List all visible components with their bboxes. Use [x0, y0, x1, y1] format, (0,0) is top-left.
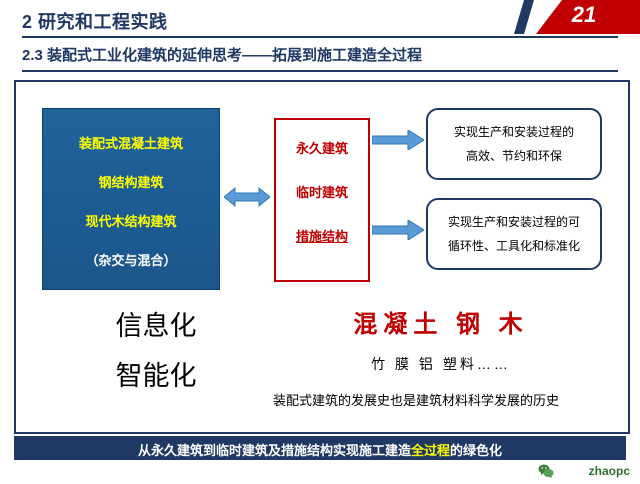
red-box-line-1: 永久建筑	[276, 138, 368, 157]
blue-box-line-4: （杂交与混合）	[43, 250, 219, 269]
red-box-line-3: 措施结构	[276, 226, 368, 245]
footer-text-part1: 从永久建筑到临时建筑及措施结构实现施工建造	[138, 443, 411, 458]
blue-box-line-2: 钢结构建筑	[43, 172, 219, 191]
outcome-box-1-line-2: 高效、节约和环保	[428, 146, 600, 166]
footer-highlight: 全过程	[411, 443, 450, 458]
blue-category-box: 装配式混凝土建筑 钢结构建筑 现代木结构建筑 （杂交与混合）	[42, 108, 220, 290]
footer-text: 从永久建筑到临时建筑及措施结构实现施工建造全过程的绿色化	[14, 440, 626, 459]
blue-box-line-3: 现代木结构建筑	[43, 211, 219, 230]
header-divider	[22, 36, 618, 38]
slide: 2 研究和工程实践 2.3 装配式工业化建筑的延伸思考——拓展到施工建造全过程 …	[0, 0, 640, 482]
arrow-to-box-2-icon	[372, 220, 424, 240]
wechat-icon	[538, 463, 554, 479]
page-number: 21	[554, 2, 614, 28]
outcome-box-2: 实现生产和安装过程的可 循环性、工具化和标准化	[426, 198, 602, 270]
red-type-box: 永久建筑 临时建筑 措施结构	[274, 118, 370, 282]
header-divider-2	[22, 70, 618, 72]
materials-secondary: 竹 膜 铝 塑料……	[266, 354, 616, 374]
materials-highlight: 混凝土 钢 木	[266, 304, 616, 339]
footer-text-part2: 的绿色化	[450, 443, 502, 458]
conclusion-text: 装配式建筑的发展史也是建筑材料科学发展的历史	[216, 390, 616, 409]
outcome-box-1-line-1: 实现生产和安装过程的	[428, 122, 600, 142]
arrow-to-box-1-icon	[372, 130, 424, 150]
outcome-box-1: 实现生产和安装过程的 高效、节约和环保	[426, 108, 602, 180]
blue-box-line-1: 装配式混凝土建筑	[43, 133, 219, 152]
page-title: 2 研究和工程实践	[22, 8, 168, 34]
page-subtitle: 2.3 装配式工业化建筑的延伸思考——拓展到施工建造全过程	[22, 44, 422, 65]
outcome-box-2-line-1: 实现生产和安装过程的可	[428, 212, 600, 232]
slide-footer: 从永久建筑到临时建筑及措施结构实现施工建造全过程的绿色化	[14, 436, 626, 460]
lower-left-line-1: 信息化	[56, 304, 256, 343]
double-arrow-icon	[224, 186, 270, 208]
watermark-bar: zhaopc	[0, 462, 640, 482]
watermark-text: zhaopc	[589, 464, 630, 478]
slide-header: 2 研究和工程实践 2.3 装配式工业化建筑的延伸思考——拓展到施工建造全过程 …	[0, 0, 640, 74]
badge-slash-shape	[514, 0, 534, 34]
content-frame: 装配式混凝土建筑 钢结构建筑 现代木结构建筑 （杂交与混合） 永久建筑 临时建筑…	[14, 80, 630, 434]
lower-left-line-2: 智能化	[56, 354, 256, 393]
outcome-box-2-line-2: 循环性、工具化和标准化	[428, 236, 600, 256]
page-number-badge: 21	[510, 0, 640, 34]
red-box-line-2: 临时建筑	[276, 182, 368, 201]
